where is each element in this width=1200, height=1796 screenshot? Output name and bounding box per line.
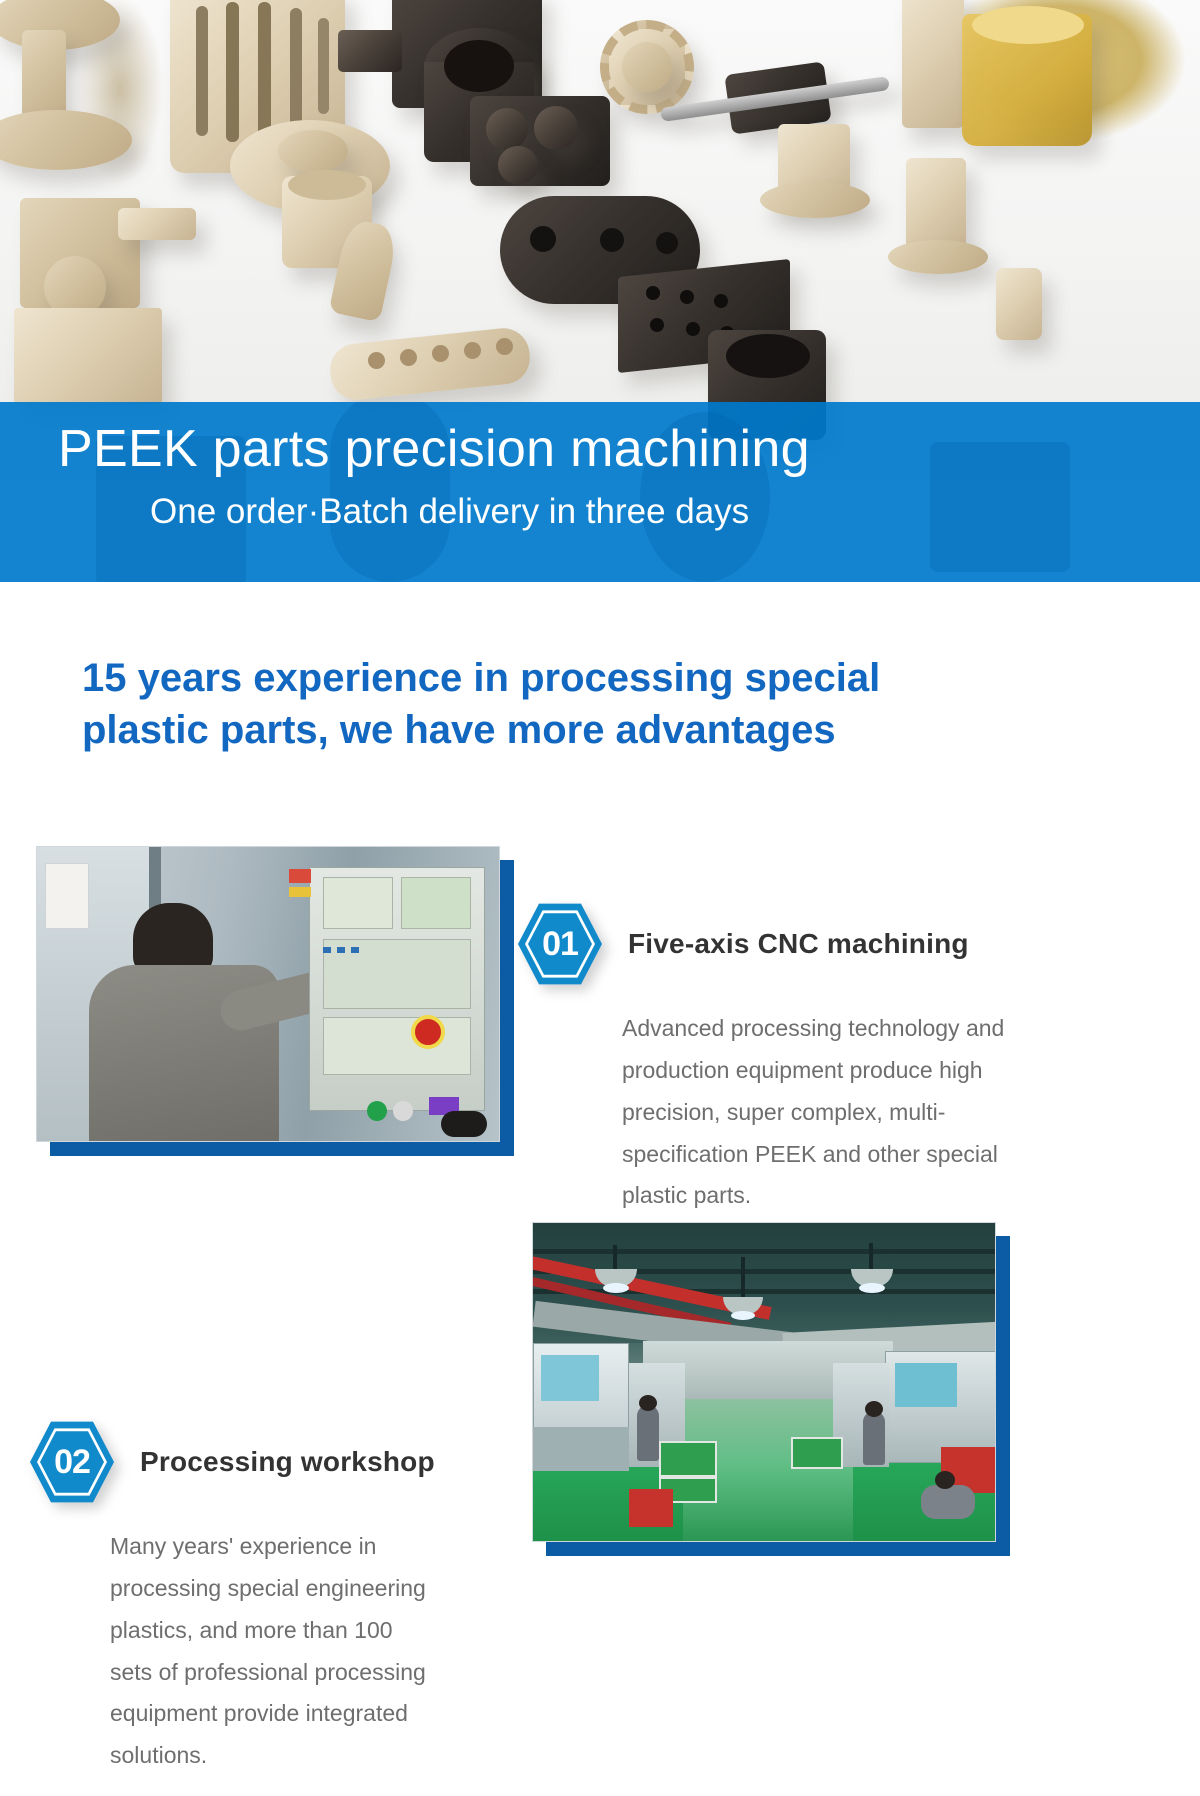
plate-hole	[600, 228, 624, 252]
cage-slot	[196, 6, 208, 136]
part-bushing	[906, 158, 966, 248]
section-heading-line2: plastic parts, we have more advantages	[82, 704, 1042, 756]
section-heading-line1: 15 years experience in processing specia…	[82, 652, 1042, 704]
product-detail-page: PEEK parts precision machining One order…	[0, 0, 1200, 1796]
part-flange-hub	[278, 130, 348, 172]
cage-slot	[258, 2, 271, 144]
part-gear-hub	[622, 42, 672, 92]
block-hole	[686, 322, 700, 336]
banner-subtitle: One order·Batch delivery in three days	[0, 481, 1200, 533]
hero-title-banner: PEEK parts precision machining One order…	[0, 402, 1200, 582]
part-tube	[902, 0, 964, 128]
feature-02-number: 02	[30, 1420, 114, 1504]
part-bushing-small	[996, 268, 1042, 340]
banner-title: PEEK parts precision machining	[0, 418, 1200, 481]
part-manifold-port	[534, 106, 578, 150]
part-manifold-port	[486, 108, 528, 150]
block-hole	[650, 318, 664, 332]
part-plate	[14, 308, 162, 404]
bar-hole	[496, 338, 513, 355]
plate-hole	[656, 232, 678, 254]
feature-02-title: Processing workshop	[140, 1446, 435, 1478]
block-hole	[646, 286, 660, 300]
bar-hole	[400, 349, 417, 366]
feature-02-badge: 02	[30, 1420, 114, 1504]
feature-02-content: 02 Processing workshop Many years' exper…	[30, 1420, 530, 1777]
block-hole	[680, 290, 694, 304]
bar-hole	[368, 352, 385, 369]
part-bushing-flange	[760, 182, 870, 218]
bar-hole	[432, 345, 449, 362]
amber-cup-rim	[972, 6, 1084, 44]
dark-cup-bore	[726, 334, 810, 378]
cage-slot	[318, 18, 329, 114]
part-manifold-port	[498, 146, 538, 184]
workshop-photo	[532, 1222, 996, 1542]
part-bracket-arm	[118, 208, 196, 240]
part-spool-base	[0, 110, 132, 170]
feature-01-content: 01 Five-axis CNC machining Advanced proc…	[518, 902, 1158, 1217]
section-heading: 15 years experience in processing specia…	[82, 652, 1042, 756]
block-hole	[714, 294, 728, 308]
feature-01-title: Five-axis CNC machining	[628, 928, 969, 960]
feature-01-number: 01	[518, 902, 602, 986]
feature-01-photo-frame	[36, 846, 500, 1142]
feature-01-body: Advanced processing technology and produ…	[518, 986, 1048, 1217]
cnc-operator-photo	[36, 846, 500, 1142]
part-dark-bore	[444, 40, 514, 92]
part-perforated-bar	[328, 326, 533, 403]
feature-02-body: Many years' experience in processing spe…	[30, 1504, 430, 1777]
feature-01-badge: 01	[518, 902, 602, 986]
part-threaded-nipple	[338, 30, 402, 72]
bushing-bore	[288, 170, 366, 200]
plate-hole	[530, 226, 556, 252]
bar-hole	[464, 342, 481, 359]
cage-slot	[290, 8, 302, 136]
part-bushing-flange	[888, 240, 988, 274]
cage-slot	[226, 2, 239, 142]
feature-02-photo-frame	[532, 1222, 996, 1542]
